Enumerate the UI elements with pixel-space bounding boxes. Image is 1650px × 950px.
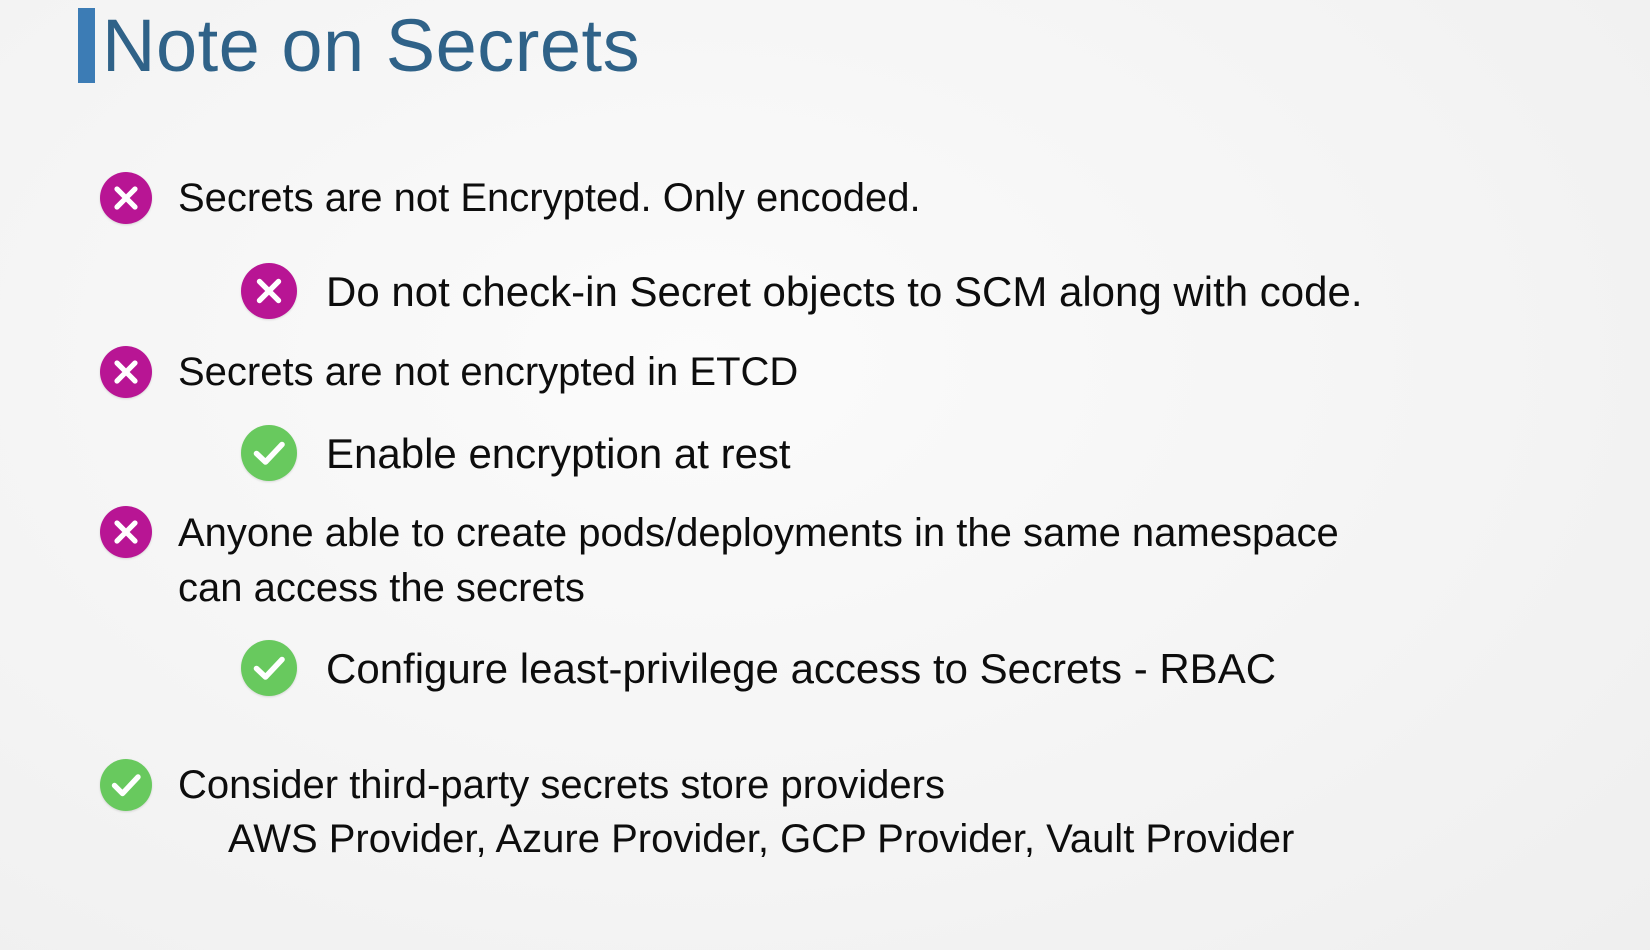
bullet-item: Anyone able to create pods/deployments i… xyxy=(0,506,1650,616)
bullet-text: Anyone able to create pods/deployments i… xyxy=(178,506,1358,616)
bullet-text: Do not check-in Secret objects to SCM al… xyxy=(326,263,1363,320)
providers-text: AWS Provider, Azure Provider, GCP Provid… xyxy=(0,813,1650,866)
check-circle-icon xyxy=(241,425,297,481)
bullet-item: Enable encryption at rest xyxy=(0,425,1650,482)
bullet-item: Configure least-privilege access to Secr… xyxy=(0,640,1650,697)
bullet-item: Secrets are not Encrypted. Only encoded. xyxy=(0,172,1650,225)
cross-circle-icon xyxy=(100,506,152,558)
bullet-text: Consider third-party secrets store provi… xyxy=(178,759,945,812)
check-circle-icon xyxy=(241,640,297,696)
cross-circle-icon xyxy=(100,172,152,224)
slide-canvas: Note on Secrets Secrets are not Encrypte… xyxy=(0,0,1650,950)
bullet-item: Secrets are not encrypted in ETCD xyxy=(0,346,1650,399)
slide-title: Note on Secrets xyxy=(78,8,640,83)
cross-circle-icon xyxy=(100,346,152,398)
check-circle-icon xyxy=(100,759,152,811)
bullet-item: Do not check-in Secret objects to SCM al… xyxy=(0,263,1650,320)
bullet-text: Enable encryption at rest xyxy=(326,425,791,482)
bullet-text: Secrets are not encrypted in ETCD xyxy=(178,346,798,399)
bullet-text: Secrets are not Encrypted. Only encoded. xyxy=(178,172,921,225)
title-accent-bar xyxy=(78,8,95,83)
page-title: Note on Secrets xyxy=(102,9,640,83)
bullet-text: Configure least-privilege access to Secr… xyxy=(326,640,1276,697)
bullet-list: Secrets are not Encrypted. Only encoded.… xyxy=(0,172,1650,866)
bullet-item: Consider third-party secrets store provi… xyxy=(0,759,1650,812)
cross-circle-icon xyxy=(241,263,297,319)
